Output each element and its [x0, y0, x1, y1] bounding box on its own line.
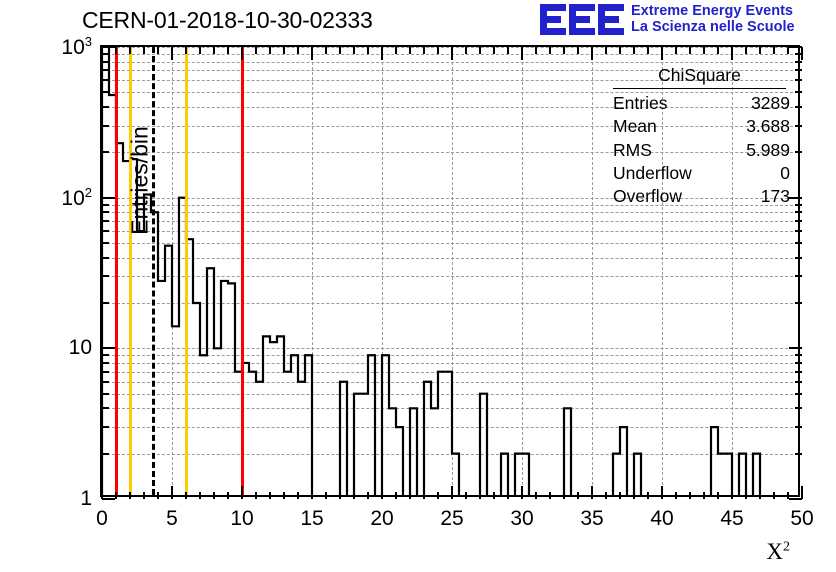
x-tick [661, 486, 663, 499]
stat-row: Mean3.688 [607, 115, 792, 138]
y-tick [795, 204, 802, 206]
x-tick [409, 492, 411, 499]
x-tick [451, 47, 453, 60]
stat-row: Overflow173 [607, 185, 792, 208]
x-tick [325, 492, 327, 499]
x-tick [773, 47, 775, 54]
x-tick-label: 40 [650, 507, 673, 531]
x-tick [759, 492, 761, 499]
x-tick [395, 47, 397, 54]
logo-e-icon-1 [540, 4, 566, 35]
y-tick [795, 242, 802, 244]
y-tick [795, 257, 802, 259]
y-tick [102, 257, 109, 259]
x-tick [297, 47, 299, 54]
x-tick-label: 45 [720, 507, 743, 531]
x-tick [787, 47, 789, 54]
x-tick [759, 47, 761, 54]
y-tick [102, 498, 115, 500]
stat-label: Mean [613, 116, 657, 137]
y-tick [102, 91, 109, 93]
x-tick [367, 492, 369, 499]
y-tick [102, 46, 115, 48]
x-tick [591, 47, 593, 60]
x-tick-label: 25 [440, 507, 463, 531]
y-tick [102, 347, 115, 349]
x-tick [143, 47, 145, 54]
x-tick [619, 47, 621, 54]
x-tick [339, 492, 341, 499]
x-tick [717, 47, 719, 54]
x-tick [185, 47, 187, 54]
x-tick [563, 47, 565, 54]
y-tick [795, 79, 802, 81]
stat-value: 173 [761, 186, 790, 207]
y-tick [795, 407, 802, 409]
x-tick [801, 486, 803, 499]
stats-title: ChiSquare [613, 65, 786, 89]
x-tick [311, 486, 313, 499]
y-tick [102, 211, 109, 213]
x-tick [577, 47, 579, 54]
stat-value: 3.688 [746, 116, 790, 137]
stat-value: 0 [780, 163, 790, 184]
y-tick [795, 69, 802, 71]
stat-row: Underflow0 [607, 162, 792, 185]
x-tick [311, 47, 313, 60]
x-tick [689, 47, 691, 54]
y-tick-label: 102 [61, 185, 92, 211]
x-tick [409, 47, 411, 54]
x-tick [479, 47, 481, 54]
x-tick [381, 47, 383, 60]
x-tick [507, 492, 509, 499]
logo-e-icon-3 [598, 4, 624, 35]
stat-label: Overflow [613, 186, 682, 207]
x-tick [535, 47, 537, 54]
x-tick-label: 20 [370, 507, 393, 531]
x-tick [745, 47, 747, 54]
x-tick [101, 47, 103, 60]
y-tick [789, 347, 802, 349]
x-tick-label: 0 [96, 507, 108, 531]
x-tick [675, 492, 677, 499]
x-tick [605, 47, 607, 54]
marker-line-red-left [115, 47, 118, 495]
x-tick [101, 486, 103, 499]
y-tick [102, 125, 109, 127]
x-tick [129, 47, 131, 54]
x-tick [717, 492, 719, 499]
y-tick [102, 453, 109, 455]
x-tick [213, 47, 215, 54]
y-tick [102, 197, 115, 199]
x-tick [395, 492, 397, 499]
x-tick [493, 47, 495, 54]
y-tick [102, 302, 109, 304]
y-tick [795, 453, 802, 455]
x-tick [689, 492, 691, 499]
y-tick [102, 242, 109, 244]
y-tick-label: 103 [61, 34, 92, 60]
logo-line-2: La Scienza nelle Scuole [631, 20, 795, 35]
stat-value: 3289 [751, 93, 790, 114]
y-tick [102, 69, 109, 71]
x-tick [185, 492, 187, 499]
x-tick [353, 47, 355, 54]
x-tick-label: 5 [166, 507, 178, 531]
x-axis-label: X2 [766, 539, 790, 565]
eee-logo: Extreme Energy Events La Scienza nelle S… [540, 4, 795, 35]
marker-line-orange-right [185, 47, 188, 495]
y-tick-label: 10 [69, 336, 92, 360]
y-tick [795, 211, 802, 213]
x-tick-label: 50 [790, 507, 813, 531]
x-tick [591, 486, 593, 499]
stat-label: RMS [613, 140, 652, 161]
y-tick [102, 79, 109, 81]
x-tick [241, 47, 243, 60]
x-tick [129, 492, 131, 499]
x-tick [703, 47, 705, 54]
logo-e-icon-2 [569, 4, 595, 35]
stats-box: ChiSquare Entries3289Mean3.688RMS5.989Un… [607, 65, 792, 209]
x-tick [451, 486, 453, 499]
x-tick [423, 492, 425, 499]
y-tick [102, 362, 109, 364]
x-tick [353, 492, 355, 499]
stat-row: RMS5.989 [607, 139, 792, 162]
y-tick [795, 381, 802, 383]
y-tick [795, 393, 802, 395]
x-tick [563, 492, 565, 499]
x-tick [633, 47, 635, 54]
y-tick [795, 91, 802, 93]
x-tick [255, 492, 257, 499]
x-tick [283, 47, 285, 54]
y-tick [102, 53, 109, 55]
x-tick [339, 47, 341, 54]
y-tick [102, 426, 109, 428]
y-tick [102, 275, 109, 277]
y-tick-label: 1 [80, 487, 92, 511]
x-tick [521, 486, 523, 499]
x-tick [283, 492, 285, 499]
x-tick [507, 47, 509, 54]
x-tick [297, 492, 299, 499]
x-tick [171, 47, 173, 60]
x-tick [325, 47, 327, 54]
page-title: CERN-01-2018-10-30-02333 [82, 7, 373, 34]
x-tick [423, 47, 425, 54]
stat-label: Underflow [613, 163, 692, 184]
y-tick [102, 220, 109, 222]
x-tick [227, 47, 229, 54]
x-tick [773, 492, 775, 499]
x-tick [549, 47, 551, 54]
stat-value: 5.989 [746, 140, 790, 161]
x-tick [255, 47, 257, 54]
y-tick [795, 354, 802, 356]
y-tick [795, 230, 802, 232]
stat-label: Entries [613, 93, 667, 114]
y-tick [795, 106, 802, 108]
x-tick-label: 35 [580, 507, 603, 531]
x-tick [157, 492, 159, 499]
y-tick [102, 407, 109, 409]
y-tick [795, 220, 802, 222]
x-tick [227, 492, 229, 499]
x-tick [241, 486, 243, 499]
x-tick [703, 492, 705, 499]
x-tick [745, 492, 747, 499]
x-tick [367, 47, 369, 54]
x-tick [269, 492, 271, 499]
y-tick [795, 125, 802, 127]
y-tick [102, 151, 109, 153]
x-tick [465, 492, 467, 499]
stat-row: Entries3289 [607, 92, 792, 115]
x-tick [465, 47, 467, 54]
x-tick [199, 492, 201, 499]
x-tick-label: 10 [230, 507, 253, 531]
y-tick [102, 230, 109, 232]
x-tick [787, 492, 789, 499]
y-tick [795, 371, 802, 373]
x-tick [731, 486, 733, 499]
y-tick [102, 106, 109, 108]
x-tick [605, 492, 607, 499]
y-tick [795, 61, 802, 63]
x-tick-label: 30 [510, 507, 533, 531]
x-tick [535, 492, 537, 499]
x-tick [801, 47, 803, 60]
y-tick [795, 275, 802, 277]
x-tick [143, 492, 145, 499]
x-tick [647, 492, 649, 499]
plot-frame: 110102103 05101520253035404550 Entries/b… [100, 45, 800, 497]
y-tick [795, 362, 802, 364]
logo-line-1: Extreme Energy Events [631, 4, 795, 19]
x-tick [199, 47, 201, 54]
marker-line-red-right [241, 47, 244, 495]
y-tick [795, 302, 802, 304]
eee-logo-mark [540, 4, 624, 35]
x-tick [647, 47, 649, 54]
x-tick [269, 47, 271, 54]
x-tick [479, 492, 481, 499]
x-tick [521, 47, 523, 60]
y-tick [102, 393, 109, 395]
y-tick [795, 426, 802, 428]
x-tick [661, 47, 663, 60]
x-tick [633, 492, 635, 499]
y-tick [102, 204, 109, 206]
x-tick [437, 492, 439, 499]
y-tick [102, 371, 109, 373]
x-tick [493, 492, 495, 499]
y-tick [795, 151, 802, 153]
x-tick [577, 492, 579, 499]
x-tick [115, 47, 117, 54]
x-tick [619, 492, 621, 499]
x-tick [171, 486, 173, 499]
x-tick [675, 47, 677, 54]
x-tick [381, 486, 383, 499]
x-tick [157, 47, 159, 54]
y-tick [102, 354, 109, 356]
y-axis-label: Entries/bin [127, 71, 154, 291]
y-tick [102, 61, 109, 63]
x-tick [731, 47, 733, 60]
x-tick [115, 492, 117, 499]
x-tick [437, 47, 439, 54]
x-tick [213, 492, 215, 499]
y-tick [102, 381, 109, 383]
x-tick [549, 492, 551, 499]
x-tick-label: 15 [300, 507, 323, 531]
